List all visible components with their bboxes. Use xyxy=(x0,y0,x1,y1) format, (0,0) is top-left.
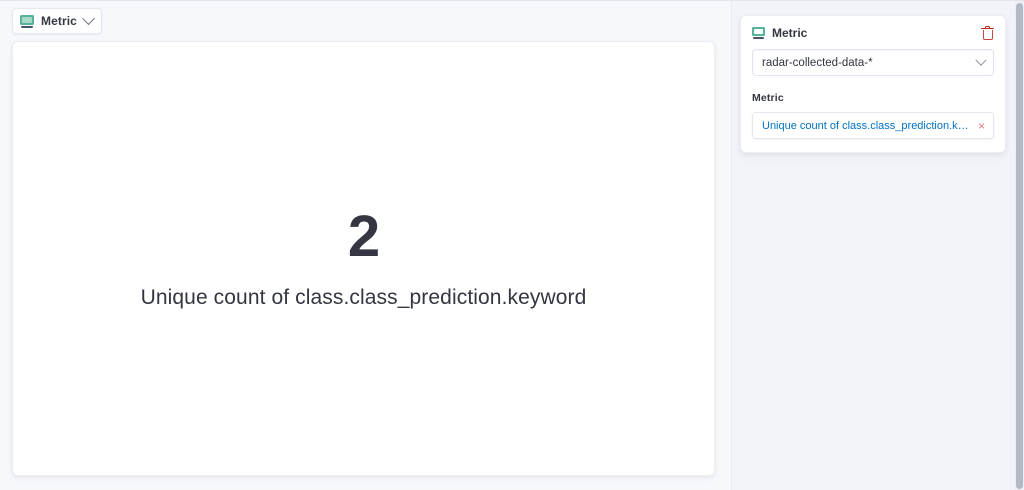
metric-value: 2 xyxy=(348,208,379,266)
vertical-scrollbar[interactable] xyxy=(1015,1,1024,490)
metric-visualization-icon xyxy=(752,27,765,39)
vis-type-label: Metric xyxy=(41,14,77,28)
trash-icon[interactable] xyxy=(981,26,994,40)
editor-card-title-wrap: Metric xyxy=(752,26,807,40)
visualization-canvas-wrapper: 2 Unique count of class.class_prediction… xyxy=(0,41,731,490)
index-pattern-select[interactable]: radar-collected-data-* xyxy=(752,49,994,76)
chevron-down-icon xyxy=(82,12,95,25)
visualization-toolbar: Metric xyxy=(0,1,731,41)
chevron-down-icon xyxy=(975,54,986,65)
metric-section-label: Metric xyxy=(752,92,994,104)
metric-aggregation-row[interactable]: Unique count of class.class_prediction.k… xyxy=(752,112,994,139)
metric-editor-card: Metric radar-collected-data-* Metric Uni… xyxy=(740,15,1006,153)
kibana-visualize-editor: Metric 2 Unique count of class.class_pre… xyxy=(0,0,1024,490)
editor-card-header: Metric xyxy=(752,26,994,40)
metric-aggregation-label: Unique count of class.class_prediction.k… xyxy=(762,120,972,132)
close-icon[interactable]: × xyxy=(972,120,985,132)
index-pattern-value: radar-collected-data-* xyxy=(762,57,873,69)
vis-type-button[interactable]: Metric xyxy=(12,8,102,34)
editor-card-title: Metric xyxy=(772,26,807,40)
scrollbar-thumb[interactable] xyxy=(1016,3,1023,489)
metric-visualization-icon xyxy=(20,15,34,28)
visualization-side: Metric 2 Unique count of class.class_pre… xyxy=(0,1,731,490)
metric-caption: Unique count of class.class_prediction.k… xyxy=(141,286,587,310)
editor-panel: Metric radar-collected-data-* Metric Uni… xyxy=(731,1,1024,490)
metric-visualization-canvas[interactable]: 2 Unique count of class.class_prediction… xyxy=(12,41,715,476)
